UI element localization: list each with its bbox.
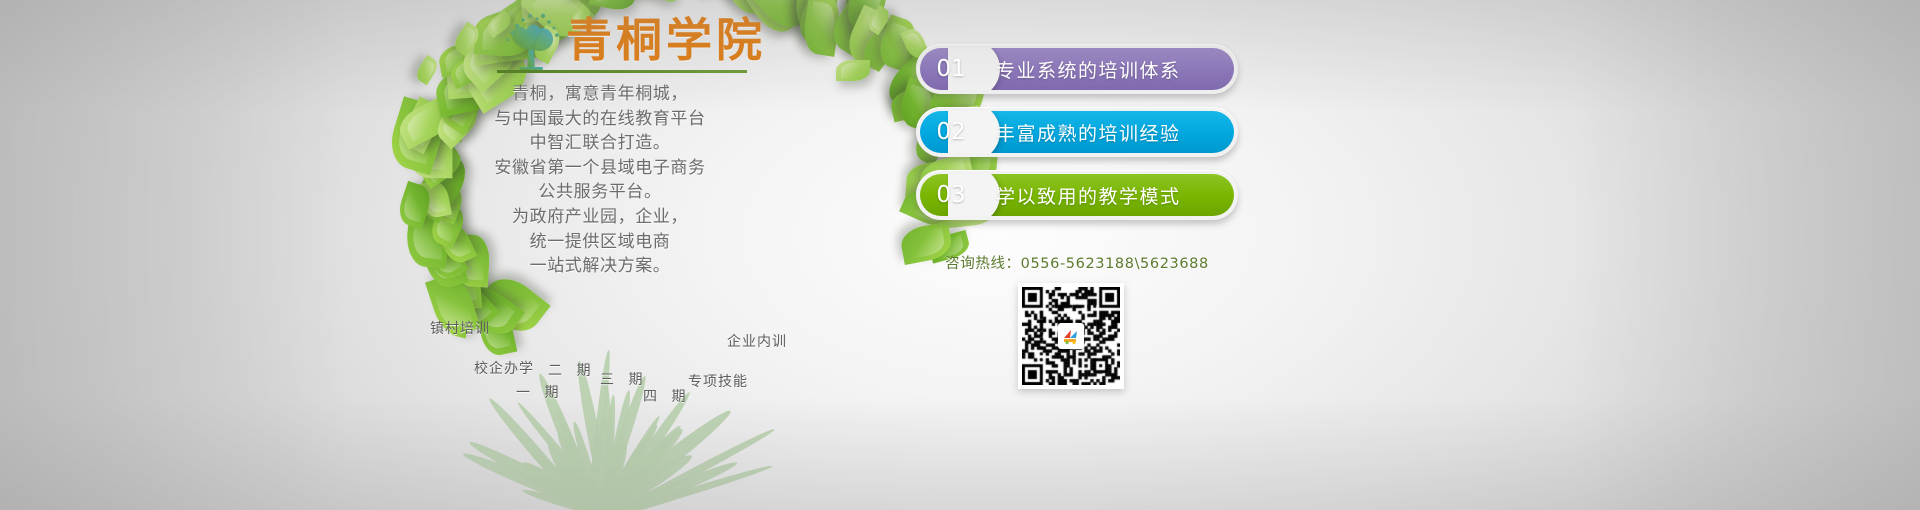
feature-label: 丰富成熟的培训经验 [996, 119, 1181, 146]
intro-paragraph: 青桐，寓意青年桐城，与中国最大的在线教育平台中智汇联合打造。安徽省第一个县域电子… [450, 82, 750, 279]
leaf-shape [413, 55, 441, 86]
brand-mark-icon [1058, 323, 1084, 349]
stage-caption: 四 期 [643, 386, 690, 406]
feature-item-01[interactable]: 01专业系统的培训体系 [916, 44, 1238, 94]
stage-caption: 二 期 [548, 360, 595, 380]
intro-line: 安徽省第一个县域电子商务 [450, 156, 750, 181]
feature-list: 01专业系统的培训体系02丰富成熟的培训经验03学以致用的教学模式 [916, 44, 1238, 233]
stage-caption: 镇村培训 [430, 318, 490, 338]
stage-caption: 企业内训 [727, 331, 787, 351]
feature-label: 专业系统的培训体系 [996, 56, 1181, 83]
feature-item-02[interactable]: 02丰富成熟的培训经验 [916, 107, 1238, 157]
qr-code-icon[interactable] [1018, 283, 1124, 389]
feature-number: 03 [928, 182, 974, 208]
intro-line: 一站式解决方案。 [450, 254, 750, 279]
stage-caption: 校企办学 [474, 358, 534, 378]
feature-item-03[interactable]: 03学以致用的教学模式 [916, 170, 1238, 220]
intro-line: 青桐，寓意青年桐城， [450, 82, 750, 107]
brand-name: 青桐学院 [566, 14, 766, 66]
hotline-text: 咨询热线：0556-5623188\5623688 [916, 252, 1238, 273]
promo-banner: 青桐学院 青桐，寓意青年桐城，与中国最大的在线教育平台中智汇联合打造。安徽省第一… [0, 0, 1920, 510]
intro-line: 为政府产业园，企业， [450, 205, 750, 230]
intro-line: 与中国最大的在线教育平台 [450, 107, 750, 132]
stage-caption: 专项技能 [688, 371, 748, 391]
leaf-shape [644, 0, 686, 6]
brand-divider [497, 70, 747, 73]
stage-caption: 三 期 [600, 369, 647, 389]
feature-number: 02 [928, 119, 974, 145]
intro-line: 公共服务平台。 [450, 180, 750, 205]
feature-label: 学以致用的教学模式 [996, 182, 1181, 209]
leaf-shape [836, 60, 870, 81]
feature-number: 01 [928, 56, 974, 82]
stage-caption: 一 期 [516, 382, 563, 402]
tree-logo-icon [497, 10, 565, 72]
intro-line: 统一提供区域电商 [450, 230, 750, 255]
intro-line: 中智汇联合打造。 [450, 131, 750, 156]
